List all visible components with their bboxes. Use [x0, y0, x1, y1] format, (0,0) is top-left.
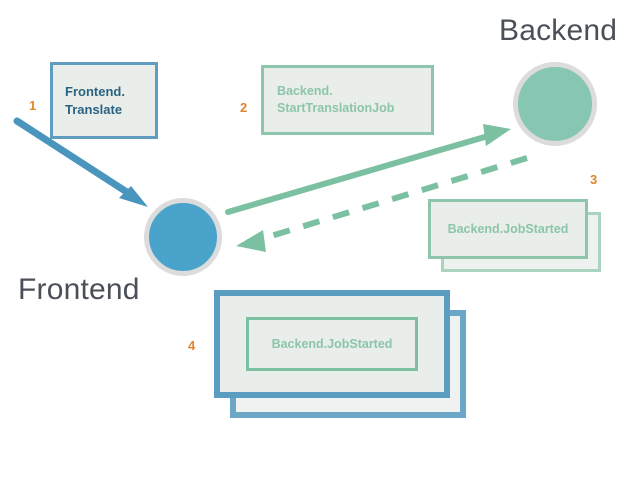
message-stack-frontend-job-started-label: Backend.JobStarted — [272, 337, 393, 351]
message-box-start-translation-job-label: Backend. StartTranslationJob — [277, 83, 394, 117]
step-number-4: 4 — [188, 339, 195, 352]
message-stack-frontend-job-started[interactable]: Backend.JobStarted — [214, 290, 464, 420]
actor-circle-frontend[interactable] — [144, 198, 222, 276]
message-box-start-translation-job[interactable]: Backend. StartTranslationJob — [261, 65, 434, 135]
step-number-1: 1 — [29, 99, 36, 112]
message-stack-frontend-job-started-inner-box: Backend.JobStarted — [246, 317, 418, 371]
message-stack-backend-job-started-front-card[interactable]: Backend.JobStarted — [428, 199, 588, 259]
step-number-3: 3 — [590, 173, 597, 186]
actor-label-backend: Backend — [499, 16, 617, 46]
message-box-frontend-translate[interactable]: Frontend. Translate — [50, 62, 158, 139]
actor-label-frontend: Frontend — [18, 275, 140, 305]
message-stack-frontend-job-started-front-card[interactable]: Backend.JobStarted — [214, 290, 450, 398]
message-stack-backend-job-started[interactable]: Backend.JobStarted — [428, 199, 588, 261]
message-box-frontend-translate-label: Frontend. Translate — [65, 83, 125, 118]
step-number-2: 2 — [240, 101, 247, 114]
actor-circle-backend[interactable] — [513, 62, 597, 146]
message-stack-backend-job-started-label: Backend.JobStarted — [448, 222, 569, 236]
diagram-canvas: Backend Frontend Frontend. Translate Bac… — [0, 0, 635, 479]
